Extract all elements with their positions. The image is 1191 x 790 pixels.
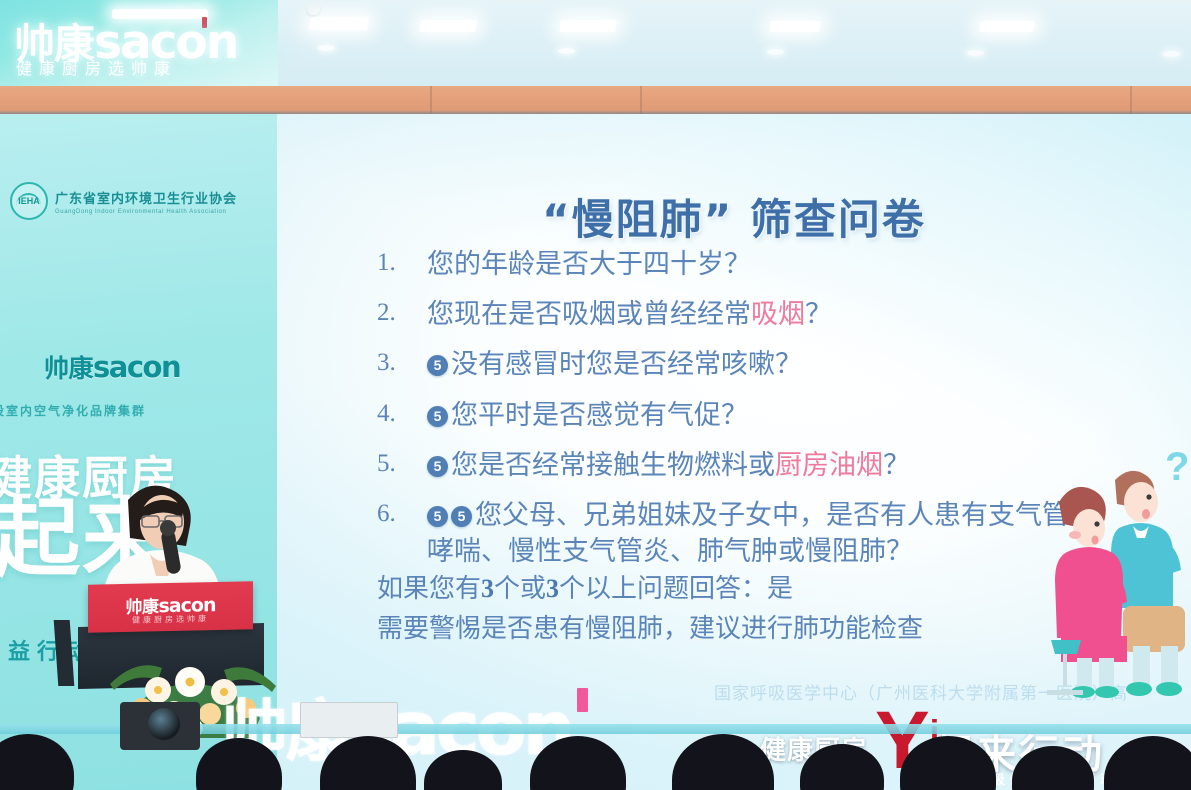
question-number: 5.	[377, 447, 427, 481]
conclusion-post: 个以上问题回答：是	[559, 574, 793, 603]
question-plain-text: 没有感冒时您是否经常咳嗽？	[451, 349, 802, 379]
laptop	[300, 702, 398, 738]
question-plain-text: 您父母、兄弟姐妹及子女中，是否有人患有支气管哮喘、慢性支气管炎、肺气肿或慢阻肺？	[427, 500, 1069, 566]
ceiling-panel-light	[769, 21, 821, 32]
questionnaire-item: 3.5没有感冒时您是否经常咳嗽？	[377, 346, 1077, 382]
projector	[120, 702, 200, 750]
question-plain-text: 您的年龄是否大于四十岁？	[427, 249, 751, 279]
score-badge-5-icon: 5	[427, 355, 448, 376]
association-mark-text: IEHA	[12, 196, 46, 206]
questionnaire-item: 4.5您平时是否感觉有气促？	[377, 397, 1077, 433]
conclusion-pre: 如果您有	[377, 574, 481, 603]
backdrop-brand-latin: sacon	[93, 350, 180, 384]
ceiling-downlight	[318, 45, 335, 51]
question-plain-text: 您是否经常接触生物燃料或	[451, 450, 775, 480]
backdrop-brand: 帅康sacon	[44, 349, 180, 385]
conclusion-num-1: 3	[481, 574, 494, 603]
header-tagline: 健康厨房选帅康	[16, 55, 264, 79]
question-number: 4.	[377, 397, 427, 431]
score-badge-5-icon: 5	[427, 506, 448, 527]
question-number: 6.	[377, 497, 427, 531]
audience-head	[320, 736, 416, 790]
backdrop-cluster-line: 设室内空气净化品牌集群	[0, 402, 146, 419]
audience-head	[1104, 736, 1191, 790]
slide-title: “慢阻肺” 筛查问卷	[277, 186, 1191, 247]
wall-seam	[1130, 86, 1132, 114]
conclusion-line-2: 需要警惕是否患有慢阻肺，建议进行肺功能检查	[377, 609, 1117, 649]
association-name-en: GuangDong Indoor Environmental Health As…	[55, 209, 237, 215]
wall-seam	[430, 86, 432, 114]
audience-head	[672, 734, 774, 790]
question-text: 55您父母、兄弟姐妹及子女中，是否有人患有支气管哮喘、慢性支气管炎、肺气肿或慢阻…	[427, 497, 1077, 569]
ceiling-downlight	[767, 49, 784, 55]
audience-head	[800, 744, 884, 790]
svg-text:?: ?	[1165, 445, 1187, 489]
ceiling-panel-light	[979, 21, 1035, 32]
audience-head	[424, 750, 502, 790]
question-text: 5没有感冒时您是否经常咳嗽？	[427, 346, 1077, 382]
ceiling-panel-light	[559, 20, 617, 32]
score-badge-5-icon: 5	[451, 506, 472, 527]
question-text: 您的年龄是否大于四十岁？	[427, 246, 1077, 282]
score-badge-5-icon: 5	[427, 456, 448, 477]
question-plain-text: 您平时是否感觉有气促？	[451, 400, 748, 430]
conclusion-mid: 个或	[494, 574, 546, 603]
question-text: 5您平时是否感觉有气促？	[427, 397, 1077, 433]
question-number: 3.	[377, 346, 427, 380]
conclusion-num-2: 3	[546, 574, 559, 603]
questionnaire-item: 1.您的年龄是否大于四十岁？	[377, 246, 1077, 282]
question-highlight-text: 吸烟	[751, 299, 805, 329]
question-highlight-text: 厨房油烟	[775, 450, 883, 480]
questionnaire-list: 1.您的年龄是否大于四十岁？2.您现在是否吸烟或曾经经常吸烟？3.5没有感冒时您…	[377, 246, 1077, 583]
seated-people-illustration: ?	[1037, 440, 1187, 698]
questionnaire-item: 2.您现在是否吸烟或曾经经常吸烟？	[377, 296, 1077, 332]
audience-head	[196, 738, 282, 790]
question-text: 5您是否经常接触生物燃料或厨房油烟？	[427, 447, 1077, 483]
audience-head	[1012, 746, 1094, 790]
questionnaire-item: 5.5您是否经常接触生物燃料或厨房油烟？	[377, 447, 1077, 483]
question-plain-text: ？	[805, 299, 832, 329]
header-led-sign: 帅康sacon 健康厨房选帅康	[0, 0, 278, 86]
projector-lens	[148, 708, 180, 740]
audience-head	[530, 736, 626, 790]
audience-head	[900, 736, 996, 790]
wall-panel	[0, 86, 1191, 114]
question-plain-text: 您现在是否吸烟或曾经经常	[427, 299, 751, 329]
score-badge-5-icon: 5	[427, 406, 448, 427]
question-number: 2.	[377, 296, 427, 330]
association-lockup: IEHA 广东省室内环境卫生行业协会 GuangDong Indoor Envi…	[10, 182, 237, 220]
slide-conclusion: 如果您有3个或3个以上问题回答：是 需要警惕是否患有慢阻肺，建议进行肺功能检查	[377, 569, 1117, 650]
ceiling-panel-light	[419, 20, 477, 32]
ceiling-downlight	[967, 50, 984, 56]
presentation-photo: 帅康sacon 健康厨房选帅康 IEHA 广东省室内环境卫生行业协会 Guang…	[0, 0, 1191, 790]
question-number: 1.	[377, 246, 427, 280]
question-text: 您现在是否吸烟或曾经经常吸烟？	[427, 296, 1077, 332]
question-plain-text: ？	[883, 450, 910, 480]
ceiling-downlight	[558, 48, 575, 54]
wall-seam	[640, 86, 642, 114]
audience-head	[0, 734, 74, 790]
conclusion-line-1: 如果您有3个或3个以上问题回答：是	[377, 569, 1117, 609]
backdrop-brand-cn: 帅康	[44, 354, 93, 383]
association-logo-icon: IEHA	[10, 182, 48, 220]
ceiling-panel-light	[309, 17, 369, 30]
questionnaire-item: 6.55您父母、兄弟姐妹及子女中，是否有人患有支气管哮喘、慢性支气管炎、肺气肿或…	[377, 497, 1077, 569]
smoke-detector-icon	[307, 2, 320, 15]
ceiling-downlight	[1163, 51, 1180, 57]
audience-silhouettes	[0, 702, 1191, 790]
association-name-cn: 广东省室内环境卫生行业协会	[55, 188, 237, 207]
